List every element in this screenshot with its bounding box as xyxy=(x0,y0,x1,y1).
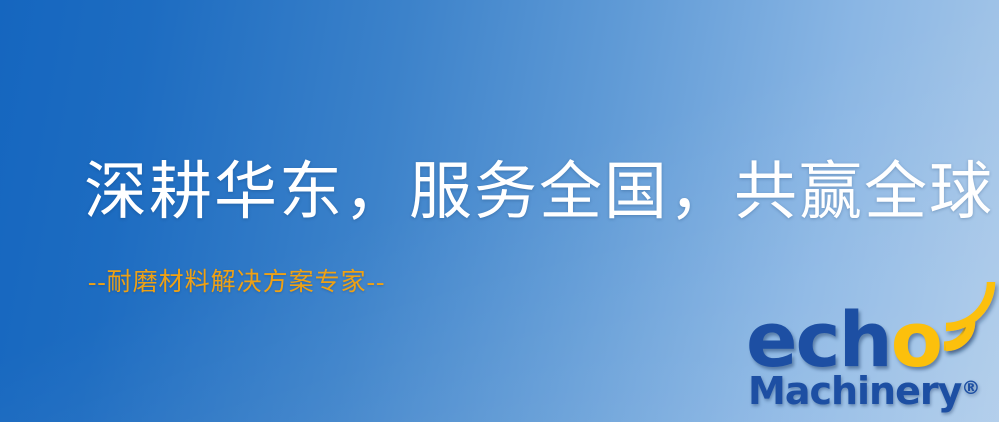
registered-trademark-icon: ® xyxy=(961,377,980,399)
banner-subtitle: --耐磨材料解决方案专家-- xyxy=(88,268,385,298)
logo-wordmark: echo xyxy=(746,302,941,378)
logo-tagline-text: Machinery xyxy=(748,369,961,413)
company-logo: echo xyxy=(744,296,994,422)
banner-headline: 深耕华东，服务全国，共赢全球 xyxy=(84,155,994,229)
hero-banner: 深耕华东，服务全国，共赢全球 --耐磨材料解决方案专家-- echo xyxy=(0,0,999,422)
logo-tagline: Machinery® xyxy=(748,368,980,411)
signal-waves-icon xyxy=(940,294,996,352)
